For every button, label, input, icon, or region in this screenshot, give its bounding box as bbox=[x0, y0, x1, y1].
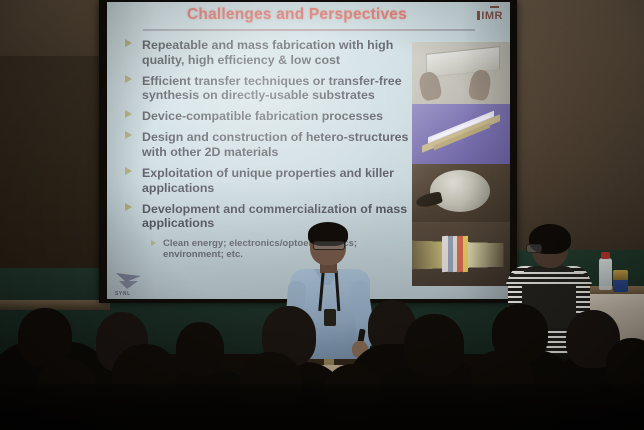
slide-title: Challenges and Perspectives bbox=[107, 6, 487, 24]
bullet-text: Device-compatible fabrication processes bbox=[142, 109, 383, 123]
bullet-item: Exploitation of unique properties and ki… bbox=[123, 166, 419, 195]
glasses-icon bbox=[313, 241, 345, 250]
image-caption bbox=[418, 272, 504, 282]
water-bottle-cap bbox=[601, 252, 610, 259]
bullet-item: Repeatable and mass fabrication with hig… bbox=[123, 38, 419, 67]
bullet-arrow-icon bbox=[125, 131, 132, 139]
film-sheet bbox=[426, 46, 500, 78]
bullet-text: Efficient transfer techniques or transfe… bbox=[142, 74, 402, 103]
imr-logo-text: IMR bbox=[481, 10, 503, 22]
bullet-arrow-icon bbox=[125, 39, 132, 47]
bullet-text: Exploitation of unique properties and ki… bbox=[142, 166, 394, 195]
sub-bullet-arrow-icon bbox=[151, 240, 156, 246]
imr-logo-bar bbox=[477, 11, 480, 20]
foreground-shadow bbox=[0, 384, 644, 430]
bullet-arrow-icon bbox=[125, 167, 132, 175]
synl-logo-text: SYNL bbox=[115, 291, 131, 297]
bullet-arrow-icon bbox=[125, 203, 132, 211]
bullet-text: Repeatable and mass fabrication with hig… bbox=[142, 38, 393, 67]
bullet-item: Design and construction of hetero-struct… bbox=[123, 130, 419, 159]
glasses-icon bbox=[526, 244, 542, 253]
drink-can bbox=[613, 270, 628, 292]
imr-logo-cap bbox=[490, 6, 499, 8]
slide-image-column bbox=[412, 42, 510, 286]
bullet-item: Efficient transfer techniques or transfe… bbox=[123, 74, 419, 103]
transparent-film-in-hands-image bbox=[412, 42, 510, 104]
device-schematic-purple-image bbox=[412, 104, 510, 164]
water-bottle bbox=[599, 258, 612, 290]
imr-logo: IMR bbox=[477, 10, 503, 22]
hand-right bbox=[468, 68, 493, 101]
title-divider bbox=[143, 29, 475, 31]
left-wall-upper bbox=[0, 0, 104, 56]
bullet-arrow-icon bbox=[125, 110, 132, 118]
optic-layer bbox=[463, 236, 468, 272]
gray-wafer-sample-image bbox=[412, 164, 510, 222]
audience-head bbox=[404, 314, 464, 376]
audience-head bbox=[176, 322, 224, 376]
bullet-arrow-icon bbox=[125, 75, 132, 83]
attendee-shoulders bbox=[506, 272, 592, 286]
bullet-text: Design and construction of hetero-struct… bbox=[142, 130, 408, 159]
bullet-item: Device-compatible fabrication processes bbox=[123, 109, 419, 124]
layered-optical-device-image bbox=[412, 222, 510, 286]
lecture-hall-photo: Challenges and Perspectives IMR Repeatab… bbox=[0, 0, 644, 430]
